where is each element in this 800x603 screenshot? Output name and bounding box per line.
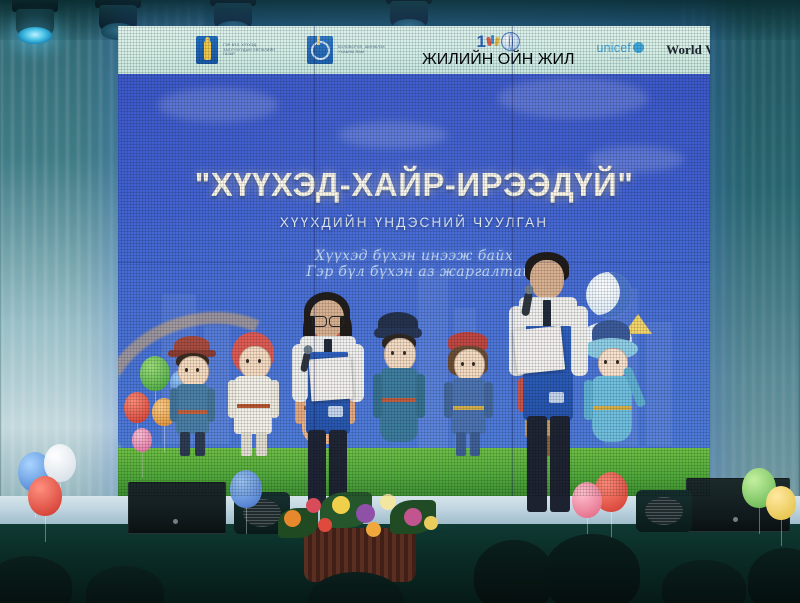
event-main-title: "ХҮҮХЭД-ХАЙР-ИРЭЭДҮЙ" [118,166,710,204]
title-block: "ХҮҮХЭД-ХАЙР-ИРЭЭДҮЙ" ХҮҮХДИЙН ҮНДЭСНИЙ … [118,166,710,282]
audience-head-5 [544,534,640,603]
anniversary-100-logo: 1 ЖИЛИЙН ОЙН ЖИЛ [422,32,575,69]
stage-balloon-pink-right [572,482,602,518]
stage-balloon-red-left [28,476,62,516]
children-figures-icon [487,34,500,49]
world-vision-logo: World Vision [666,42,710,58]
cartoon-boy-teal-deel [370,316,428,458]
cartoon-girl-denim [440,332,496,458]
presenter-boy-vest-logo [549,392,564,403]
unicef-logo: unicef for every child [597,41,645,60]
sponsor-logo-bar: ГЭР БҮЛ, ХҮҮХЭД, ЗАЛУУЧУУДЫН ХӨГЖЛИЙН ГА… [118,26,710,74]
ministry-logo: БОЛОВСРОЛ, ШИНЖЛЭХ УХААНЫ ЯАМ [307,36,400,64]
flower-basket [258,484,458,576]
stage-photo: ГЭР БҮЛ, ХҮҮХЭД, ЗАЛУУЧУУДЫН ХӨГЖЛИЙН ГА… [0,0,800,603]
par-can-right [636,490,692,532]
balloon-red [124,392,150,423]
ministry-logo-text: БОЛОВСРОЛ, ШИНЖЛЭХ УХААНЫ ЯАМ [338,45,400,54]
event-sub-title: ХҮҮХДИЙН ҮНДЭСНИЙ ЧУУЛГАН [118,215,710,230]
ministry-emblem-icon [307,36,333,64]
anniversary-label: ЖИЛИЙН ОЙН ЖИЛ [422,51,575,69]
unicef-child-icon [633,42,644,53]
cartoon-girl-blue-robe [582,322,642,458]
mongolia-government-logo: ГЭР БҮЛ, ХҮҮХЭД, ЗАЛУУЧУУДЫН ХӨГЖЛИЙН ГА… [196,36,285,64]
event-script-line-2: Гэр бүл бүхэн аз жаргалтай [128,262,710,282]
unicef-tagline: for every child [611,56,631,60]
stage-monitor-left [128,482,226,534]
led-video-wall: ГЭР БҮЛ, ХҮҮХЭД, ЗАЛУУЧУУДЫН ХӨГЖЛИЙН ГА… [118,26,710,496]
mongolia-government-logo-text: ГЭР БҮЛ, ХҮҮХЭД, ЗАЛУУЧУУДЫН ХӨГЖЛИЙН ГА… [223,43,285,57]
balloon-pink [132,428,152,452]
audience-head-4 [474,540,554,603]
soyombo-icon [196,36,218,64]
stage-balloon-yellow-right [766,486,796,520]
cartoon-girl-white-robe [226,332,282,458]
presenter-girl-vest-logo [328,406,343,417]
anniversary-digit: 1 [477,33,486,50]
unicef-wordmark: unicef [597,41,632,55]
globe-icon [501,32,520,51]
presenter-boy [505,252,591,512]
cartoon-boy-blue-deel [166,336,220,458]
presenter-girl-paper [309,357,354,402]
presenter-boy-paper [513,326,565,375]
world-vision-wordmark: World Vision [666,42,710,58]
presenter-girl [288,294,368,510]
